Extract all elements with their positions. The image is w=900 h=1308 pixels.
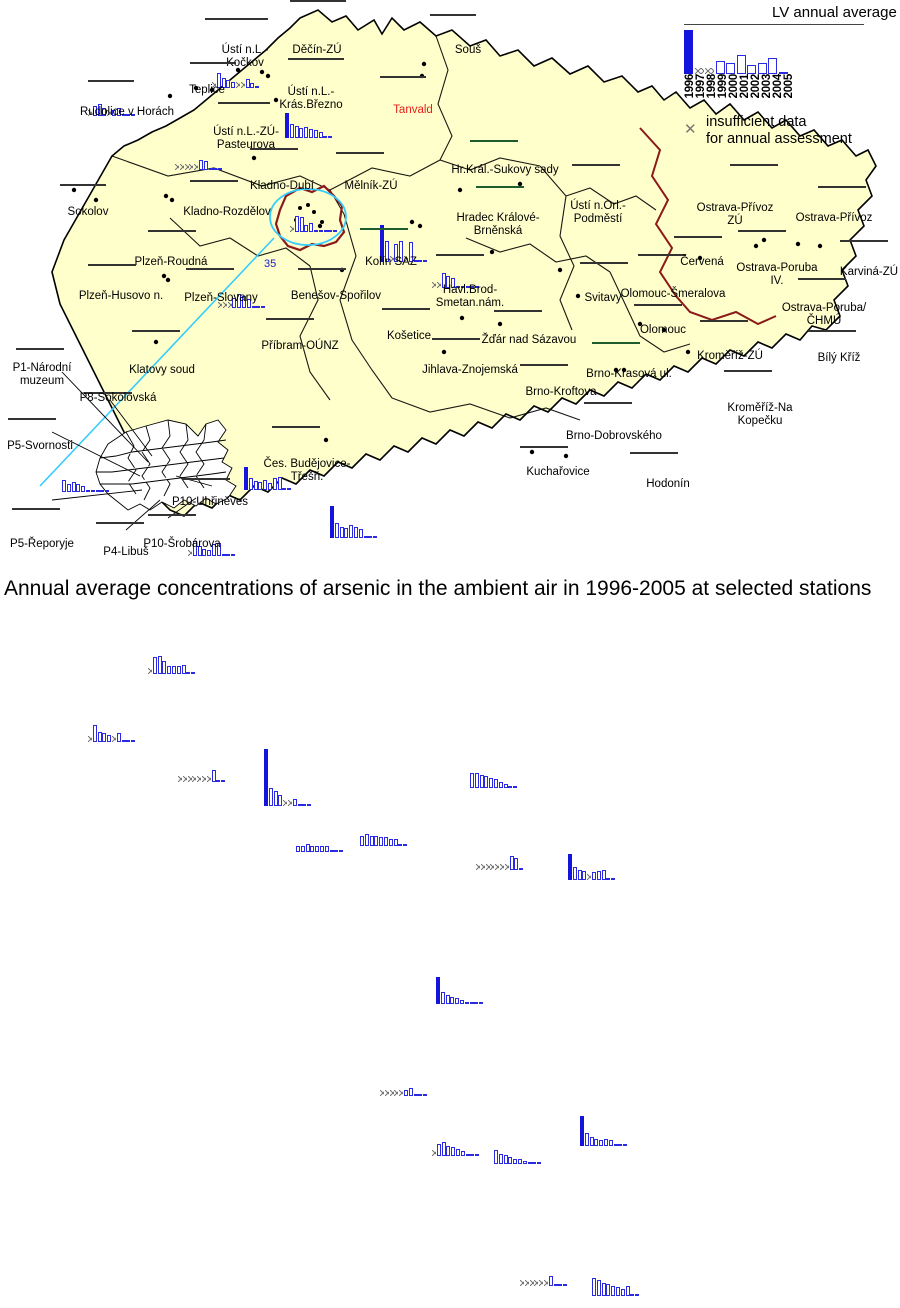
- bar-5: [320, 846, 324, 852]
- bar-4: [513, 1159, 517, 1164]
- lv-threshold-line: [634, 304, 682, 306]
- bar-9: [403, 844, 407, 846]
- bar-8: [226, 554, 230, 556]
- lv-threshold-line: [186, 268, 234, 270]
- station-label: Karviná-ZÚ: [836, 266, 900, 279]
- no-data-marker: [283, 799, 287, 806]
- station-label: Brno-Kroftova: [520, 386, 602, 399]
- bar-5: [460, 1000, 464, 1004]
- bar-7: [330, 850, 334, 852]
- bar-8: [250, 83, 254, 88]
- no-data-marker: [539, 1279, 543, 1286]
- no-data-marker: [175, 163, 179, 170]
- lv-threshold-line: [298, 268, 346, 270]
- legend-year-1997: 1997: [695, 74, 706, 98]
- bar-6: [177, 666, 181, 674]
- bar-2: [300, 217, 304, 232]
- bar-0: [568, 854, 572, 880]
- bar-8: [126, 740, 130, 742]
- lv-threshold-line: [218, 102, 270, 104]
- no-data-marker: [236, 81, 240, 88]
- station-label: Ústí n.Orl.-Podměstí: [556, 200, 640, 225]
- bar-8: [618, 1144, 622, 1146]
- bar-8: [328, 230, 332, 232]
- station-label: Ostrava-Poruba IV.: [736, 262, 818, 287]
- bar-3: [374, 836, 378, 846]
- bar-8: [630, 1294, 634, 1296]
- bar-9: [475, 1154, 479, 1156]
- no-data-marker: [194, 163, 198, 170]
- bar-6: [609, 1140, 613, 1146]
- bar-1: [93, 725, 97, 742]
- station-chart-8: [62, 458, 118, 492]
- legend-year-2004: 2004: [772, 74, 783, 98]
- bar-group: [296, 844, 343, 852]
- bar-group: [290, 216, 337, 232]
- bar-group: [360, 834, 407, 846]
- x-cross-icon: ✕: [684, 120, 697, 138]
- bar-3: [508, 1157, 512, 1164]
- bar-7: [212, 770, 216, 782]
- bar-8: [398, 844, 402, 846]
- station-label: Ostrava-Přívoz ZÚ: [694, 202, 776, 227]
- bar-5: [592, 872, 596, 880]
- bar-2: [295, 126, 299, 138]
- bar-4: [304, 127, 308, 138]
- station-label: P5-Řeporyje: [4, 538, 80, 551]
- no-data-marker: [495, 863, 499, 870]
- legend-year-2002: 2002: [750, 74, 761, 98]
- bar-group: [436, 977, 483, 1004]
- lv-threshold-line: [724, 370, 772, 372]
- station-chart-19: [476, 836, 532, 870]
- no-data-marker: [486, 863, 490, 870]
- lv-threshold-line: [580, 262, 628, 264]
- bar-3: [446, 1146, 450, 1156]
- bar-1: [269, 788, 273, 806]
- bar-3: [299, 128, 303, 138]
- bar-9: [513, 786, 517, 788]
- lv-threshold-line: [430, 14, 476, 16]
- station-chart-21: [436, 970, 492, 1004]
- bar-3: [582, 871, 586, 880]
- bar-2: [274, 791, 278, 806]
- no-data-marker: [500, 863, 504, 870]
- lv-threshold-line: [592, 342, 640, 344]
- bar-9: [339, 850, 343, 852]
- bar-9: [635, 1294, 639, 1296]
- bar-5: [456, 1149, 460, 1156]
- bar-7: [414, 1094, 418, 1096]
- station-label: Červená: [676, 256, 728, 269]
- lv-threshold-line: [182, 478, 230, 480]
- bar-4: [611, 1286, 615, 1296]
- station-label: Olomouc-Šmeralova: [618, 288, 728, 301]
- lv-threshold-line: [674, 236, 722, 238]
- legend-year-1999: 1999: [717, 74, 728, 98]
- bar-7: [510, 856, 514, 870]
- lv-threshold-line: [250, 148, 298, 150]
- bar-2: [480, 775, 484, 788]
- bar-5: [737, 55, 746, 74]
- no-data-marker: [481, 863, 485, 870]
- bar-6: [204, 161, 208, 170]
- lv-threshold-line: [476, 186, 524, 188]
- bar-1: [499, 1154, 503, 1164]
- bar-7: [209, 168, 213, 170]
- station-label: Kolín SAZ: [360, 256, 422, 269]
- bar-1: [67, 484, 71, 492]
- no-data-marker: [385, 1089, 389, 1096]
- bar-group: [178, 770, 225, 782]
- station-chart-12: [148, 640, 204, 674]
- legend-insufficient-note: insufficient data for annual assessment: [706, 114, 852, 148]
- lv-threshold-line: [494, 310, 542, 312]
- bar-4: [599, 1140, 603, 1146]
- lv-threshold-line: [190, 62, 236, 64]
- lv-threshold-line: [266, 318, 314, 320]
- lv-threshold-line: [290, 0, 346, 2]
- bar-9: [423, 1094, 427, 1096]
- bar-5: [604, 1139, 608, 1146]
- legend-year-2001: 2001: [739, 74, 750, 98]
- bar-group: [432, 1142, 479, 1156]
- station-label: Teplice: [184, 84, 230, 97]
- bar-9: [255, 86, 259, 88]
- station-label: Kladno-Dubí: [246, 180, 318, 193]
- station-label: Plzeň-Slovany: [180, 292, 262, 305]
- lv-threshold-line: [360, 228, 408, 230]
- station-label: Ústí n.L.-Krás.Březno: [272, 86, 350, 111]
- bar-8: [418, 1094, 422, 1096]
- bar-4: [726, 63, 735, 74]
- bar-9: [519, 868, 523, 870]
- no-data-marker: [178, 775, 182, 782]
- station-label: Plzeň-Roudná: [131, 256, 211, 269]
- bar-9: [231, 554, 235, 556]
- lv-threshold-line: [382, 308, 430, 310]
- bar-0: [580, 1116, 584, 1146]
- bar-9: [105, 490, 109, 492]
- bar-7: [298, 804, 302, 806]
- bar-0: [264, 749, 268, 806]
- lv-threshold-line: [520, 364, 568, 366]
- bar-8: [368, 536, 372, 538]
- bar-2: [602, 1283, 606, 1296]
- station-chart-20: [568, 846, 624, 880]
- bar-8: [302, 804, 306, 806]
- bar-5: [172, 666, 176, 674]
- lv-threshold-line: [272, 426, 320, 428]
- no-data-marker: [544, 1279, 548, 1286]
- bar-8: [334, 850, 338, 852]
- station-label: Čes. Budějovice-Třešň.: [250, 458, 364, 483]
- bar-2: [158, 656, 162, 674]
- bar-6: [293, 799, 297, 806]
- bar-7: [182, 665, 186, 674]
- bar-5: [309, 129, 313, 138]
- lv-threshold-line: [840, 240, 888, 242]
- bar-6: [117, 733, 121, 742]
- station-label: Hradec Králové-Brněnská: [450, 212, 546, 237]
- bar-9: [131, 740, 135, 742]
- bar-6: [389, 839, 393, 846]
- station-chart-18: [470, 754, 526, 788]
- lv-threshold-line: [818, 186, 866, 188]
- bar-9: [287, 488, 291, 490]
- lv-threshold-line: [148, 514, 196, 516]
- bar-6: [314, 130, 318, 138]
- bar-6: [747, 65, 756, 74]
- station-chart-16: [296, 818, 352, 852]
- bar-group: [264, 749, 311, 806]
- station-label: Havl.Brod-Smetan.nám.: [424, 284, 516, 309]
- station-label: Brno-Dobrovského: [562, 430, 666, 443]
- bar-2: [504, 1155, 508, 1164]
- bar-6: [91, 490, 95, 492]
- bar-9: [261, 306, 265, 308]
- bar-5: [404, 1090, 408, 1096]
- lv-threshold-line: [190, 180, 238, 182]
- bar-0: [244, 467, 248, 490]
- bar-6: [523, 1161, 527, 1164]
- station-label: P8-Sokolovská: [76, 392, 160, 405]
- station-label: Děčín-ZÚ: [288, 44, 346, 57]
- bar-9: [218, 168, 222, 170]
- station-label: Tanvald: [389, 104, 437, 117]
- station-chart-24: [494, 1130, 550, 1164]
- bar-7: [504, 784, 508, 788]
- bar-0: [330, 506, 334, 538]
- no-data-marker: [587, 873, 591, 880]
- bar-4: [207, 550, 211, 556]
- bar-group: [592, 1278, 639, 1296]
- bar-group: [175, 160, 222, 170]
- no-data-marker: [705, 67, 714, 74]
- no-data-marker: [534, 1279, 538, 1286]
- bar-8: [474, 1002, 478, 1004]
- bar-8: [768, 58, 777, 74]
- bar-4: [167, 666, 171, 674]
- lv-threshold-line: [470, 140, 518, 142]
- bar-4: [455, 998, 459, 1004]
- station-label: Souš: [448, 44, 488, 57]
- station-label: Kroměříž-Na Kopečku: [716, 402, 804, 427]
- bar-7: [122, 740, 126, 742]
- bar-7: [758, 63, 767, 74]
- bar-6: [409, 1088, 413, 1096]
- bar-group: [568, 854, 615, 880]
- bar-8: [216, 780, 220, 782]
- bar-9: [373, 536, 377, 538]
- bar-3: [102, 733, 106, 742]
- bar-group: [88, 725, 135, 742]
- bar-2: [98, 732, 102, 742]
- station-chart-17: [360, 812, 416, 846]
- bar-9: [221, 780, 225, 782]
- bar-2: [590, 1137, 594, 1146]
- legend-year-axis: 1996199719981999200020012002200320042005: [684, 74, 794, 98]
- bar-4: [489, 778, 493, 788]
- bar-2: [442, 1142, 446, 1156]
- bar-6: [549, 1276, 553, 1286]
- station-chart-14: [178, 748, 234, 782]
- bar-6: [359, 529, 363, 538]
- no-data-marker: [695, 67, 704, 74]
- no-data-marker: [192, 775, 196, 782]
- station-chart-25: [580, 1112, 636, 1146]
- bar-6: [597, 871, 601, 880]
- bar-group: [148, 656, 195, 674]
- station-label: Brno-Krasová ul.: [584, 368, 674, 381]
- bar-6: [325, 846, 329, 852]
- station-label: Příbram-OÚNZ: [256, 340, 344, 353]
- lv-threshold-line: [96, 522, 144, 524]
- bar-7: [602, 870, 606, 880]
- bar-8: [100, 490, 104, 492]
- station-label: Ostrava-Poruba/ČHMÚ: [766, 302, 882, 327]
- bar-7: [96, 490, 100, 492]
- bar-8: [558, 1284, 562, 1286]
- station-label: Olomouc: [636, 324, 690, 337]
- station-label: Klatovy soud: [122, 364, 202, 377]
- bar-7: [470, 1002, 474, 1004]
- bar-8: [256, 306, 260, 308]
- bar-6: [319, 230, 323, 232]
- station-label: P10-Šrobárova: [140, 538, 224, 551]
- bar-group: [580, 1116, 627, 1146]
- bar-group: [470, 773, 517, 788]
- station-label: Kroměříž-ZÚ: [692, 350, 768, 363]
- station-label: Plzeň-Husovo n.: [75, 290, 167, 303]
- bar-9: [623, 1144, 627, 1146]
- bar-6: [621, 1289, 625, 1296]
- lv-threshold-line: [205, 18, 268, 20]
- no-data-marker: [148, 667, 152, 674]
- bar-7: [394, 839, 398, 846]
- bar-3: [606, 1284, 610, 1296]
- station-label: P5-Svornosti: [2, 440, 78, 453]
- station-label: P1-Národní muzeum: [4, 362, 80, 387]
- bar-5: [518, 1159, 522, 1164]
- no-data-marker: [490, 863, 494, 870]
- station-chart-7: [432, 254, 488, 288]
- no-data-marker: [180, 163, 184, 170]
- station-chart-4: [290, 198, 346, 232]
- bar-4: [451, 1147, 455, 1156]
- station-label: Bílý Kříž: [812, 352, 866, 365]
- no-data-marker: [288, 799, 292, 806]
- bar-8: [508, 786, 512, 788]
- lv-threshold-line: [288, 58, 344, 60]
- station-label: Benešov-Spořilov: [288, 290, 384, 303]
- insufficient-line-1: insufficient data: [706, 114, 852, 131]
- bar-9: [333, 230, 337, 232]
- station-chart-15: [264, 772, 320, 806]
- bar-7: [528, 1162, 532, 1164]
- lv-threshold-line: [88, 264, 136, 266]
- figure-caption: Annual average concentrations of arsenic…: [4, 575, 896, 602]
- lv-threshold-line: [738, 230, 786, 232]
- bar-2: [578, 870, 582, 880]
- bar-group: [520, 1276, 567, 1286]
- bar-5: [86, 490, 90, 492]
- lv-threshold-line: [12, 508, 60, 510]
- bar-7: [626, 1286, 630, 1296]
- bar-1: [335, 523, 339, 538]
- lv-threshold-line: [148, 230, 196, 232]
- bar-3: [716, 61, 725, 74]
- bar-7: [324, 230, 328, 232]
- bar-0: [494, 1150, 498, 1164]
- bar-6: [465, 1002, 469, 1004]
- bar-7: [246, 79, 250, 88]
- station-chart-26: [520, 1252, 576, 1286]
- bar-8: [186, 672, 190, 674]
- bar-3: [594, 1139, 598, 1146]
- station-chart-22: [380, 1062, 436, 1096]
- bar-group: [380, 1088, 427, 1096]
- bar-3: [278, 795, 282, 806]
- bar-2: [72, 482, 76, 492]
- lv-threshold-line: [432, 338, 480, 340]
- bar-0: [296, 846, 300, 852]
- bar-0: [684, 30, 693, 74]
- bar-4: [315, 846, 319, 852]
- bar-6: [461, 1151, 465, 1156]
- no-data-marker: [476, 863, 480, 870]
- lv-threshold-line: [630, 452, 678, 454]
- bar-5: [314, 230, 318, 232]
- station-label: Ostrava-Přívoz: [790, 212, 878, 225]
- bar-group: [330, 506, 377, 538]
- bar-0: [470, 773, 474, 788]
- bar-5: [494, 779, 498, 788]
- no-data-marker: [112, 735, 116, 742]
- station-chart-23: [432, 1122, 488, 1156]
- no-data-marker: [520, 1279, 524, 1286]
- bar-8: [532, 1162, 536, 1164]
- bar-1: [365, 834, 369, 846]
- bar-7: [222, 554, 226, 556]
- bar-7: [319, 132, 323, 138]
- bar-group: [62, 480, 109, 492]
- bar-8: [514, 858, 518, 870]
- bar-7: [364, 536, 368, 538]
- bar-1: [573, 867, 577, 880]
- no-data-marker: [505, 863, 509, 870]
- bar-9: [328, 136, 332, 138]
- lv-threshold-line: [730, 164, 778, 166]
- bar-0: [62, 480, 66, 492]
- station-label: Mělník-ZÚ: [338, 180, 404, 193]
- bar-1: [597, 1280, 601, 1296]
- station-label: Hodonín: [642, 478, 694, 491]
- bar-group: [684, 30, 788, 74]
- bar-7: [252, 306, 256, 308]
- bar-8: [282, 488, 286, 490]
- lv-threshold-line: [520, 446, 568, 448]
- bar-6: [499, 782, 503, 788]
- bar-1: [437, 1144, 441, 1156]
- station-label: Ústí n.L.-Kočkov: [206, 44, 284, 69]
- bar-1: [153, 657, 157, 674]
- bar-2: [340, 527, 344, 538]
- no-data-marker: [88, 735, 92, 742]
- bar-4: [309, 223, 313, 232]
- bar-1: [301, 846, 305, 852]
- station-label: Žďár nad Sázavou: [480, 334, 578, 347]
